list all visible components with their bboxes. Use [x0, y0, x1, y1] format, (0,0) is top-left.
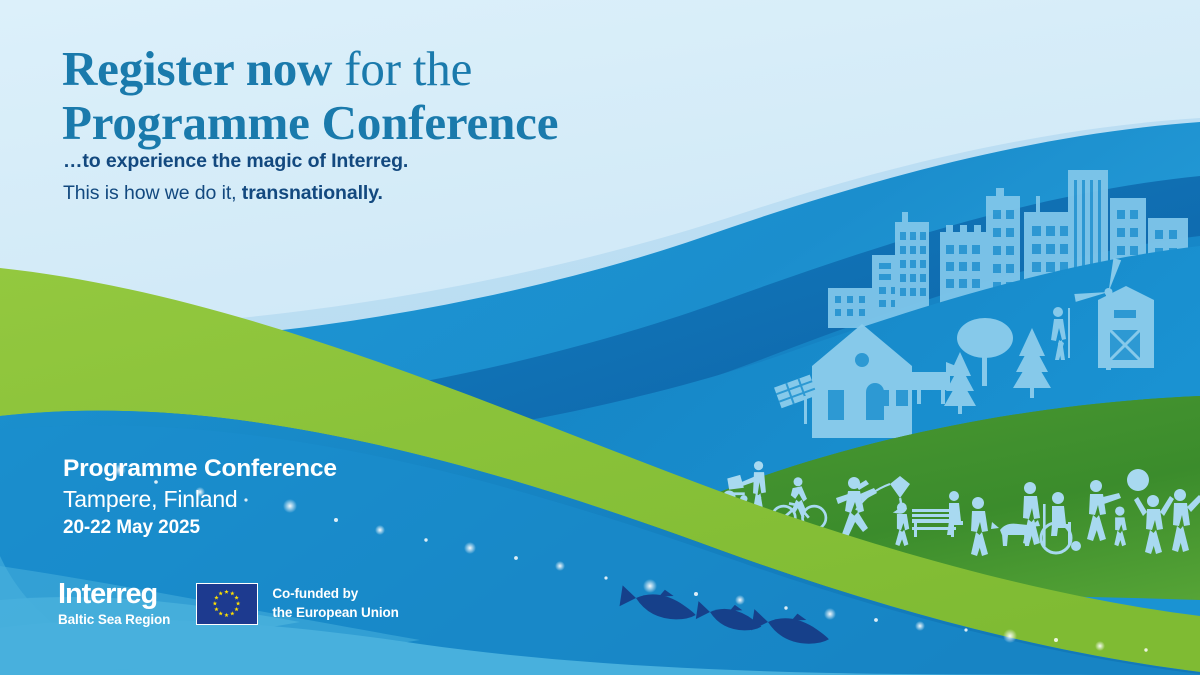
conference-promo-banner: Register now for the Programme Conferenc… [0, 0, 1200, 675]
eu-funding-line2: the European Union [272, 604, 398, 622]
headline-line2: Programme Conference [62, 98, 762, 148]
ball-icon [1127, 469, 1149, 491]
eu-funding-line1: Co-funded by [272, 585, 398, 603]
interreg-programme-name: Baltic Sea Region [58, 612, 170, 627]
subheading-line2-emphasis: transnationally. [242, 182, 383, 204]
eu-funding-statement: Co-funded by the European Union [272, 585, 398, 621]
event-dates: 20-22 May 2025 [63, 517, 337, 539]
interreg-wordmark: Interreg [58, 580, 170, 609]
logo-row: Interreg Baltic Sea Region Co-funded by … [58, 580, 399, 627]
eu-stars [197, 584, 256, 623]
event-details: Programme Conference Tampere, Finland 20… [63, 455, 337, 539]
event-name: Programme Conference [63, 455, 337, 484]
subheading-line2-prefix: This is how we do it, [63, 182, 242, 204]
subheading: …to experience the magic of Interreg. Th… [63, 147, 823, 208]
headline-emphasis: Register now [62, 41, 332, 96]
interreg-logo: Interreg Baltic Sea Region [58, 580, 170, 627]
event-location: Tampere, Finland [63, 485, 337, 513]
eu-flag-icon [196, 583, 258, 625]
page-title: Register now for the Programme Conferenc… [62, 44, 762, 148]
barn-icon [1098, 286, 1154, 368]
subheading-line1: …to experience the magic of Interreg. [63, 147, 823, 177]
headline-rest: for the [332, 41, 472, 96]
subheading-line2: This is how we do it, transnationally. [63, 179, 823, 209]
